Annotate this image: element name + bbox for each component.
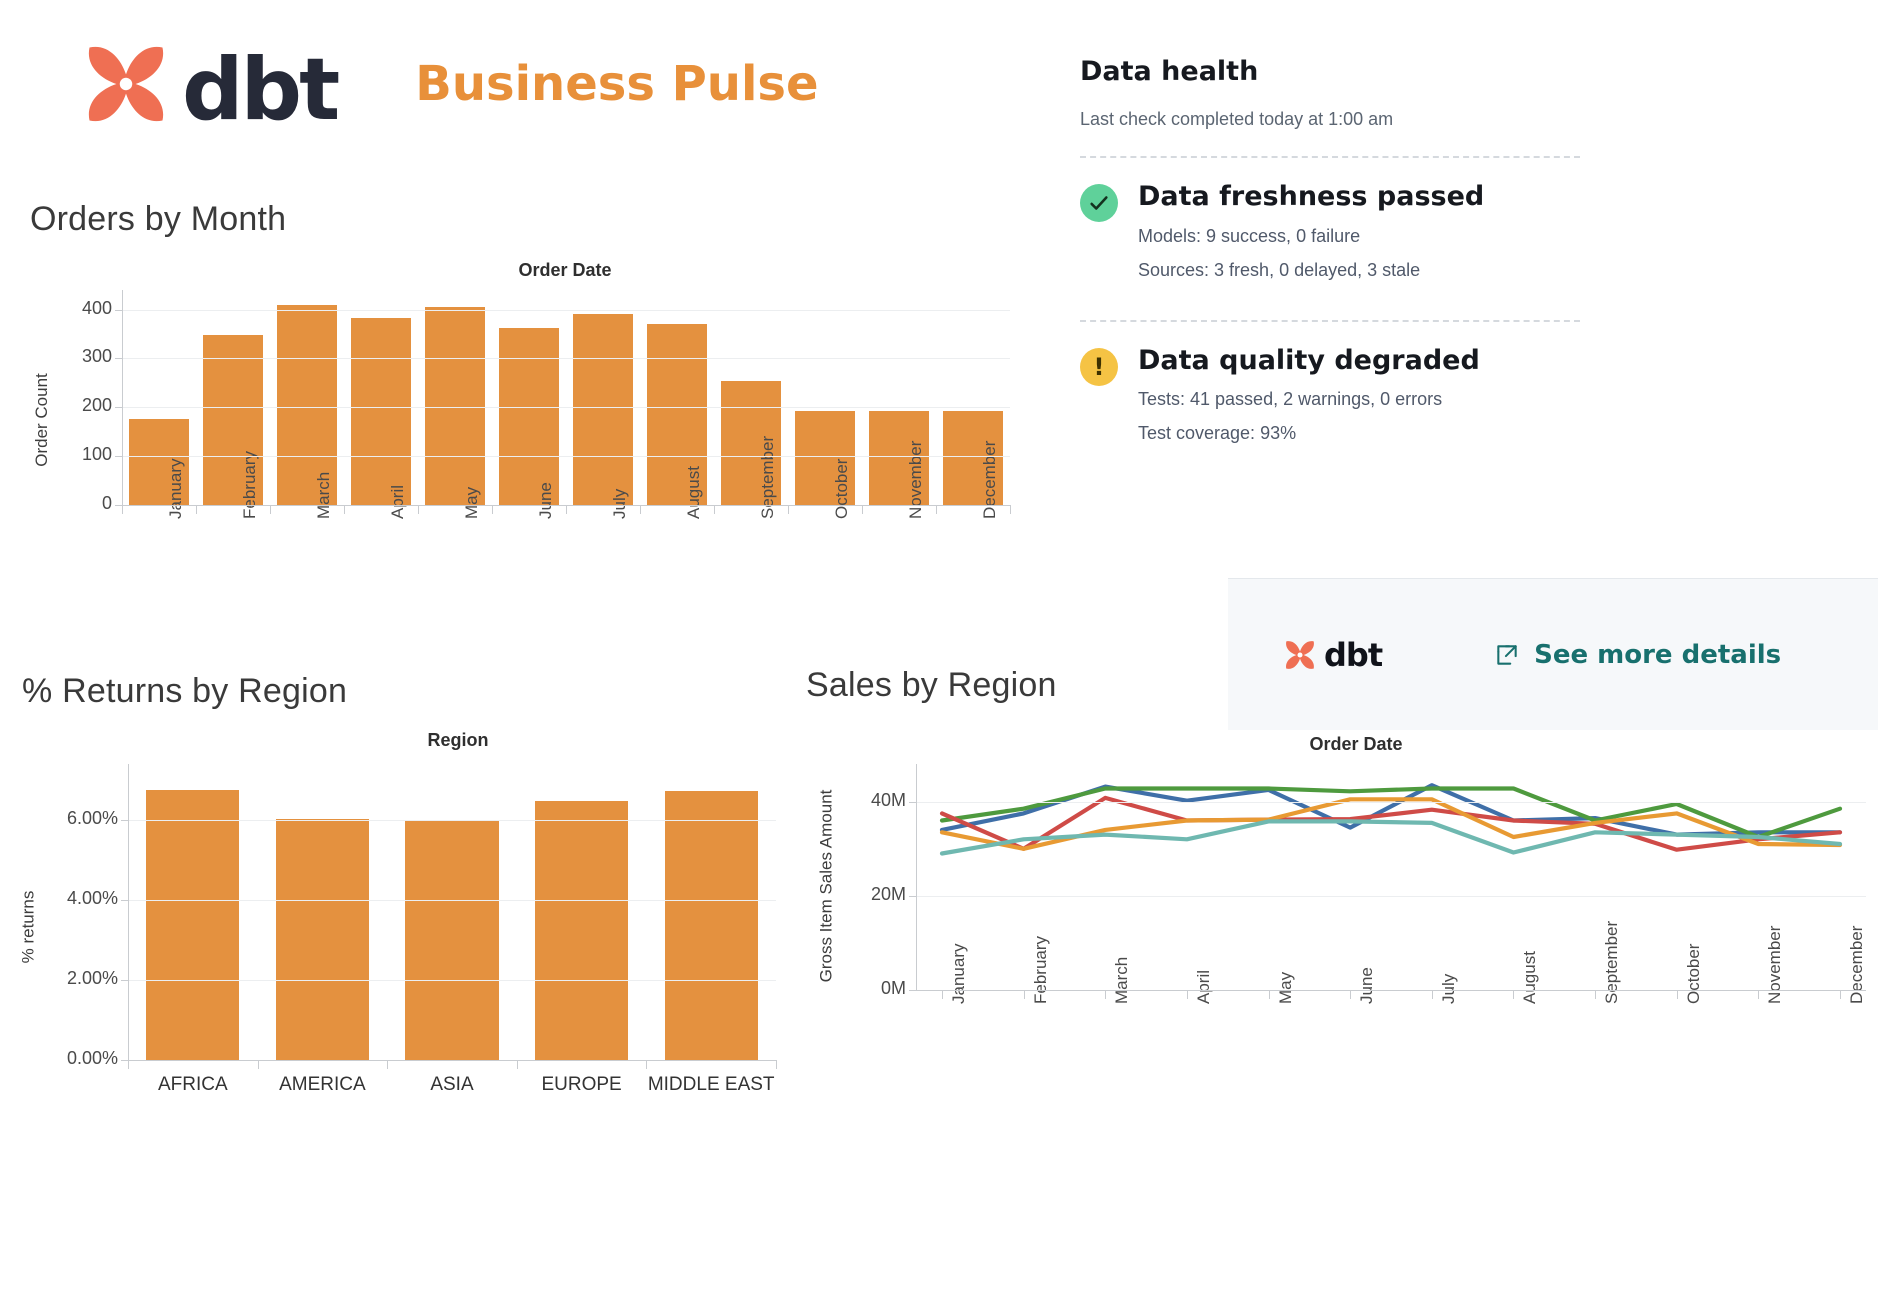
dbt-logo: dbt (78, 36, 337, 132)
bar (425, 307, 484, 505)
y-axis-line (916, 764, 917, 990)
x-tick-label: February (240, 451, 260, 519)
bar (665, 791, 758, 1060)
bar (146, 790, 239, 1060)
x-tick-label: June (1357, 967, 1377, 1004)
y-tick-label: 40M (850, 790, 906, 811)
gridline (916, 896, 1866, 897)
y-tick-mark (115, 505, 122, 506)
x-tick-mark (1350, 990, 1351, 999)
sales-y-axis-label: Gross Item Sales Amount (816, 790, 836, 983)
health-item-title: Data freshness passed (1138, 182, 1484, 212)
x-tick-label: July (1439, 974, 1459, 1004)
x-tick-mark (1595, 990, 1596, 999)
gridline (128, 820, 776, 821)
x-tick-mark (1677, 990, 1678, 999)
x-tick-label: July (610, 489, 630, 519)
x-tick-label: November (1765, 926, 1785, 1004)
x-tick-mark (942, 990, 943, 999)
x-tick-label: September (1602, 921, 1622, 1004)
x-tick-mark (270, 505, 271, 514)
check-circle-icon (1080, 184, 1118, 222)
gridline (122, 407, 1010, 408)
y-tick-label: 6.00% (32, 808, 118, 829)
line-series-blue (942, 785, 1840, 834)
x-tick-label: June (536, 482, 556, 519)
y-tick-label: 0M (850, 978, 906, 999)
x-tick-label: May (462, 487, 482, 519)
x-tick-label: April (1194, 970, 1214, 1004)
orders-by-month-title: Orders by Month (30, 200, 286, 239)
health-item-line: Tests: 41 passed, 2 warnings, 0 errors (1138, 389, 1480, 410)
x-tick-mark (258, 1060, 259, 1069)
x-tick-label: January (166, 459, 186, 519)
x-tick-mark (1010, 505, 1011, 514)
sales-by-region-chart: Order Date Gross Item Sales Amount Janua… (806, 726, 1878, 1106)
dashboard-header: dbt Business Pulse (78, 36, 819, 132)
x-tick-mark (1840, 990, 1841, 999)
x-tick-mark (776, 1060, 777, 1069)
x-tick-label: AMERICA (258, 1074, 388, 1096)
x-tick-mark (1187, 990, 1188, 999)
last-check-text: Last check completed today at 1:00 am (1080, 109, 1580, 130)
x-tick-mark (936, 505, 937, 514)
x-tick-label: August (684, 466, 704, 519)
returns-chart-header: Region (128, 730, 788, 751)
sales-by-region-title: Sales by Region (806, 666, 1057, 705)
y-tick-mark (121, 980, 128, 981)
x-tick-label: November (906, 441, 926, 519)
y-tick-mark (115, 358, 122, 359)
gridline (122, 358, 1010, 359)
y-tick-label: 2.00% (32, 968, 118, 989)
x-axis-line (916, 990, 1866, 991)
x-tick-label: December (980, 441, 1000, 519)
y-axis-line (128, 764, 129, 1060)
gridline (128, 900, 776, 901)
x-tick-label: ASIA (387, 1074, 517, 1096)
y-tick-mark (115, 456, 122, 457)
data-health-panel: Data health Last check completed today a… (1080, 56, 1580, 457)
y-tick-label: 100 (66, 444, 112, 465)
y-tick-mark (121, 900, 128, 901)
page-title: Business Pulse (415, 56, 818, 112)
x-tick-mark (492, 505, 493, 514)
x-tick-label: AFRICA (128, 1074, 258, 1096)
y-tick-mark (121, 820, 128, 821)
returns-by-region-title: % Returns by Region (22, 672, 347, 711)
x-tick-label: August (1520, 951, 1540, 1004)
x-tick-mark (1758, 990, 1759, 999)
x-tick-label: April (388, 485, 408, 519)
x-tick-mark (128, 1060, 129, 1069)
bar (573, 314, 632, 505)
x-tick-label: September (758, 436, 778, 519)
y-tick-mark (909, 896, 916, 897)
y-tick-mark (115, 407, 122, 408)
x-tick-mark (714, 505, 715, 514)
x-tick-label: February (1031, 936, 1051, 1004)
health-item-title: Data quality degraded (1138, 346, 1480, 376)
x-tick-mark (566, 505, 567, 514)
y-tick-mark (909, 990, 916, 991)
y-axis-line (122, 290, 123, 505)
y-tick-mark (121, 1060, 128, 1061)
x-tick-mark (196, 505, 197, 514)
gridline (916, 802, 1866, 803)
x-tick-label: January (949, 944, 969, 1004)
x-tick-label: October (1684, 944, 1704, 1004)
external-link-icon (1494, 642, 1520, 668)
x-tick-label: October (832, 459, 852, 519)
dbt-logo-small: dbt (1282, 636, 1382, 674)
y-tick-label: 200 (66, 395, 112, 416)
orders-by-month-chart: Order Date Order Count JanuaryFebruaryMa… (0, 250, 1030, 640)
returns-by-region-chart: Region % returns AFRICAAMERICAASIAEUROPE… (0, 722, 800, 1112)
divider (1080, 320, 1580, 322)
health-item-line: Sources: 3 fresh, 0 delayed, 3 stale (1138, 260, 1484, 281)
x-tick-mark (1105, 990, 1106, 999)
y-tick-mark (115, 310, 122, 311)
x-tick-mark (1024, 990, 1025, 999)
orders-y-axis-label: Order Count (32, 373, 52, 467)
dbt-x-mark-icon (78, 36, 174, 132)
y-tick-label: 0 (66, 493, 112, 514)
x-tick-mark (646, 1060, 647, 1069)
gridline (128, 980, 776, 981)
x-tick-mark (122, 505, 123, 514)
y-tick-label: 20M (850, 884, 906, 905)
x-tick-label: May (1276, 972, 1296, 1004)
bar (351, 318, 410, 505)
x-tick-mark (517, 1060, 518, 1069)
sales-lines-svg (916, 764, 1866, 990)
dashboard-page: dbt Business Pulse Orders by Month % Ret… (0, 0, 1878, 1312)
bar (405, 821, 498, 1060)
x-tick-label: MIDDLE EAST (646, 1074, 776, 1096)
x-tick-mark (1269, 990, 1270, 999)
health-item-freshness: Data freshness passed Models: 9 success,… (1080, 182, 1580, 294)
warning-circle-icon: ! (1080, 348, 1118, 386)
bar (499, 328, 558, 505)
y-tick-label: 4.00% (32, 888, 118, 909)
bar (535, 801, 628, 1060)
x-axis-line (128, 1060, 776, 1061)
see-more-details-link[interactable]: See more details (1494, 640, 1781, 670)
orders-chart-header: Order Date (120, 260, 1010, 281)
health-item-line: Test coverage: 93% (1138, 423, 1480, 444)
y-tick-mark (909, 802, 916, 803)
x-tick-label: March (1112, 957, 1132, 1004)
sales-chart-header: Order Date (916, 734, 1796, 755)
divider (1080, 156, 1580, 158)
bar (276, 819, 369, 1060)
dbt-x-mark-icon (1282, 637, 1318, 673)
dbt-wordmark-small: dbt (1324, 636, 1382, 674)
y-tick-label: 0.00% (32, 1048, 118, 1069)
x-tick-mark (344, 505, 345, 514)
see-more-details-card: dbt See more details (1228, 578, 1878, 730)
x-tick-label: March (314, 472, 334, 519)
health-item-line: Models: 9 success, 0 failure (1138, 226, 1484, 247)
health-item-quality: ! Data quality degraded Tests: 41 passed… (1080, 346, 1580, 458)
x-tick-label: EUROPE (517, 1074, 647, 1096)
x-tick-mark (387, 1060, 388, 1069)
x-tick-mark (418, 505, 419, 514)
y-tick-label: 300 (66, 346, 112, 367)
x-tick-mark (640, 505, 641, 514)
gridline (122, 456, 1010, 457)
dbt-wordmark: dbt (182, 50, 337, 132)
x-tick-mark (788, 505, 789, 514)
x-tick-mark (1513, 990, 1514, 999)
x-tick-mark (862, 505, 863, 514)
gridline (122, 310, 1010, 311)
x-tick-mark (1432, 990, 1433, 999)
x-tick-label: December (1847, 926, 1867, 1004)
y-tick-label: 400 (66, 298, 112, 319)
see-more-details-label: See more details (1534, 640, 1781, 670)
data-health-title: Data health (1080, 56, 1580, 87)
